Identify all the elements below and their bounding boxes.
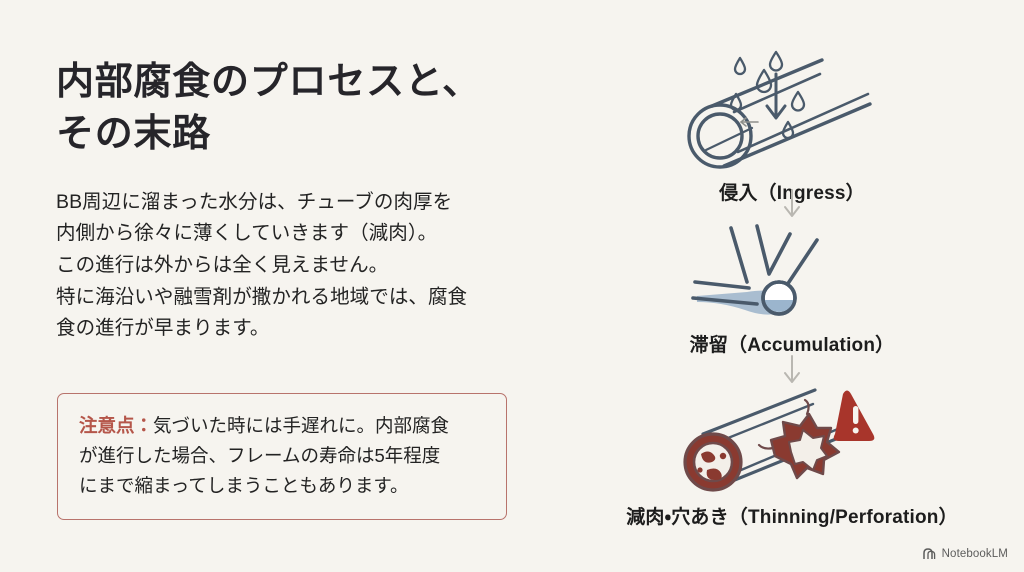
stage-accumulation-label: 滞留（Accumulation） [560, 330, 1024, 357]
stage-perforation: 減肉・穴あき（Thinning/Perforation） [560, 378, 1024, 529]
left-content-column: 内部腐食のプロセスと、 その末路 BB周辺に溜まった水分は、チューブの肉厚を 内… [56, 56, 526, 345]
notebooklm-logo-icon [923, 548, 937, 560]
warning-triangle-icon [834, 391, 875, 442]
slide-canvas: 内部腐食のプロセスと、 その末路 BB周辺に溜まった水分は、チューブの肉厚を 内… [0, 0, 1024, 572]
notebooklm-watermark: NotebookLM [923, 548, 1008, 560]
stage-accumulation: 滞留（Accumulation） [560, 212, 1024, 357]
stage-perforation-label: 減肉・穴あき（Thinning/Perforation） [560, 502, 1024, 529]
bottom-bracket-water-pooling-icon [687, 212, 897, 328]
process-diagram-column: 侵入（Ingress） [560, 26, 1024, 546]
tube-with-water-droplets-icon [672, 40, 912, 176]
page-title: 内部腐食のプロセスと、 その末路 [56, 56, 526, 161]
notebooklm-watermark-text: NotebookLM [942, 548, 1008, 560]
warning-callout-box: 注意点：気づいた時には手遅れに。内部腐食 が進行した場合、フレームの寿命は5年程… [57, 393, 507, 520]
corroded-tube-with-hole-icon [667, 378, 917, 500]
stage-ingress: 侵入（Ingress） [560, 40, 1024, 205]
warning-label: 注意点： [79, 415, 153, 436]
body-paragraph: BB周辺に溜まった水分は、チューブの肉厚を 内側から徐々に薄くしていきます（減肉… [56, 187, 526, 345]
warning-callout-text: 注意点：気づいた時には手遅れに。内部腐食 が進行した場合、フレームの寿命は5年程… [79, 411, 485, 501]
